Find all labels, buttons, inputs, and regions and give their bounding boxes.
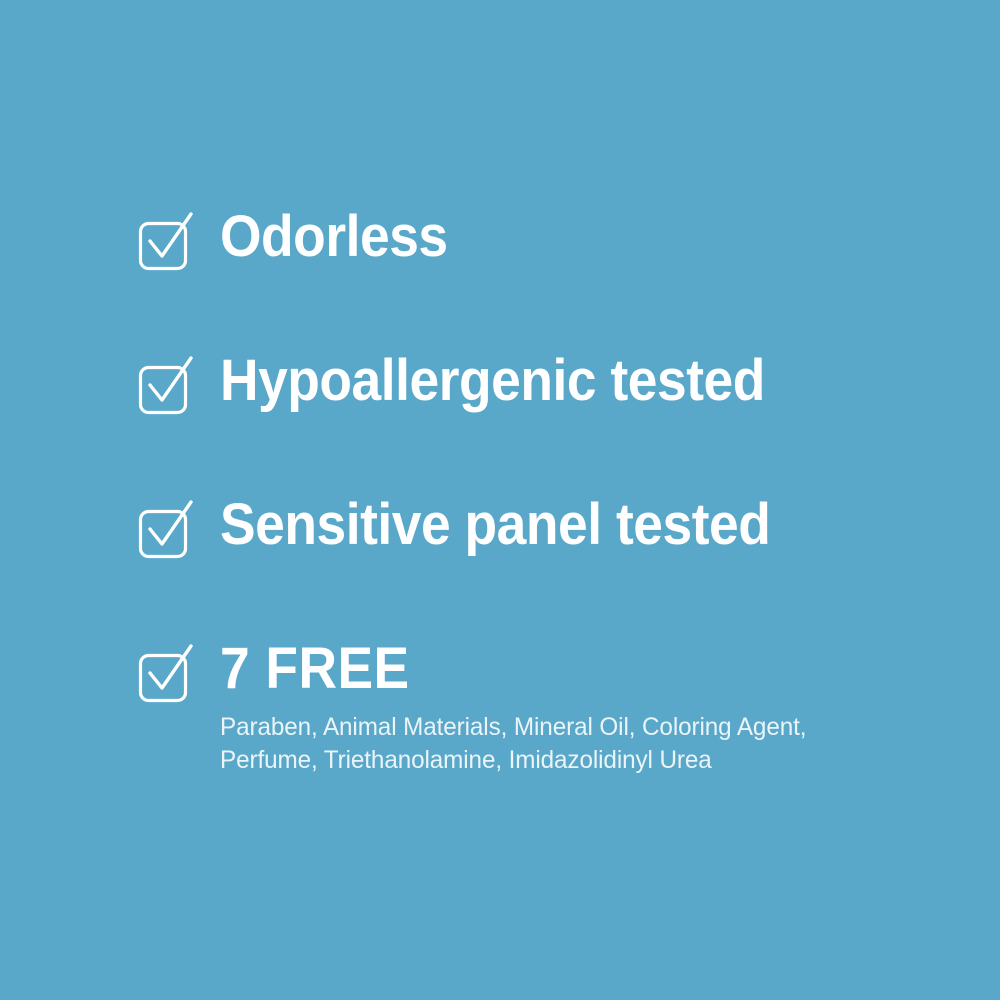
feature-body: Hypoallergenic tested <box>220 349 958 413</box>
checkbox-checked-icon <box>138 499 194 559</box>
feature-item-odorless: Odorless <box>138 205 958 271</box>
feature-label: Sensitive panel tested <box>220 493 899 557</box>
excluded-ingredients-line: Paraben, Animal Materials, Mineral Oil, … <box>220 711 936 744</box>
excluded-ingredients-list: Paraben, Animal Materials, Mineral Oil, … <box>220 711 936 777</box>
feature-list: Odorless Hypoallergenic tested <box>138 205 958 777</box>
promo-banner: Odorless Hypoallergenic tested <box>0 0 1000 1000</box>
checkbox-checked-icon <box>138 643 194 703</box>
feature-body: Sensitive panel tested <box>220 493 958 557</box>
feature-item-7-free: 7 FREE Paraben, Animal Materials, Minera… <box>138 637 958 777</box>
excluded-ingredients-line: Perfume, Triethanolamine, Imidazolidinyl… <box>220 744 936 777</box>
checkbox-checked-icon <box>138 355 194 415</box>
feature-label: Hypoallergenic tested <box>220 349 899 413</box>
checkbox-checked-icon <box>138 211 194 271</box>
feature-item-sensitive-panel-tested: Sensitive panel tested <box>138 493 958 559</box>
feature-body: Odorless <box>220 205 958 269</box>
feature-item-hypoallergenic-tested: Hypoallergenic tested <box>138 349 958 415</box>
feature-label: 7 FREE <box>220 637 899 701</box>
feature-body: 7 FREE Paraben, Animal Materials, Minera… <box>220 637 958 777</box>
feature-label: Odorless <box>220 205 899 269</box>
